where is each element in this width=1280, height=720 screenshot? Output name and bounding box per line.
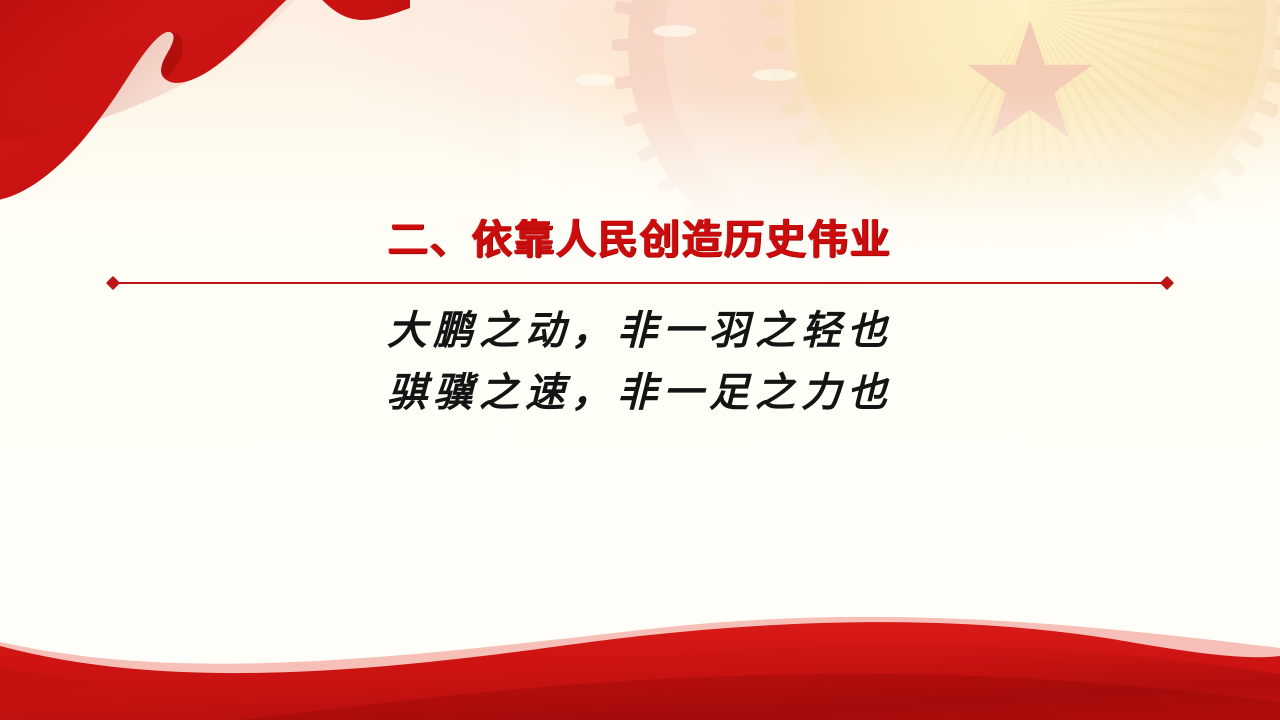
divider [108, 276, 1172, 290]
slide-canvas: 二、依靠人民创造历史伟业 大鹏之动，非一羽之轻也 骐骥之速，非一足之力也 [0, 0, 1280, 720]
page-title: 二、依靠人民创造历史伟业 [0, 207, 1280, 265]
diamond-cap-right-icon [1160, 276, 1174, 290]
divider-rule [114, 282, 1166, 284]
quote-line-1: 大鹏之动，非一羽之轻也 [0, 300, 1280, 362]
quote-block: 大鹏之动，非一羽之轻也 骐骥之速，非一足之力也 [0, 300, 1280, 424]
quote-line-2: 骐骥之速，非一足之力也 [0, 362, 1280, 424]
